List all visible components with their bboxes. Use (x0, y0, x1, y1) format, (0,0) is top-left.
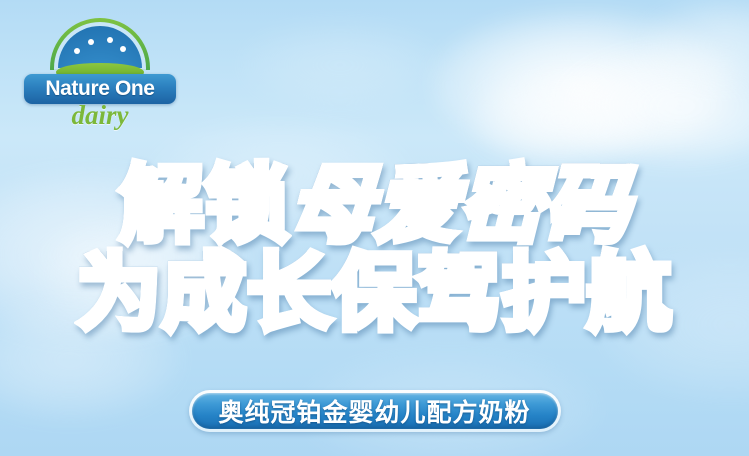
cloud-shape (470, 72, 650, 168)
headline-line-2-part-1: 为成长保驾护航 (77, 251, 672, 335)
cloud-shape (240, 20, 440, 110)
headline-line-1: 解锁母爱密码 (0, 163, 749, 247)
product-badge-inner: 奥纯冠铂金婴幼儿配方奶粉 (192, 393, 558, 429)
logo-wordmark: Nature One (45, 77, 154, 101)
headline: 解锁母爱密码 为成长保驾护航 (0, 163, 749, 335)
promo-banner: Nature One dairy 解锁母爱密码 为成长保驾护航 奥纯冠铂金婴幼儿… (0, 0, 749, 456)
product-badge-label: 奥纯冠铂金婴幼儿配方奶粉 (218, 393, 530, 429)
logo-tagline: dairy (24, 100, 176, 131)
brand-logo: Nature One dairy (24, 18, 176, 136)
cloud-shape (430, 10, 730, 160)
product-badge: 奥纯冠铂金婴幼儿配方奶粉 (189, 390, 561, 432)
headline-line-1-part-1: 解锁 (119, 163, 289, 247)
cloud-shape (560, 46, 749, 166)
headline-line-1-part-2: 母爱密码 (290, 163, 630, 247)
headline-line-2: 为成长保驾护航 (0, 251, 749, 335)
sunburst-dome-icon (50, 18, 150, 80)
cloud-shape (640, 0, 749, 90)
